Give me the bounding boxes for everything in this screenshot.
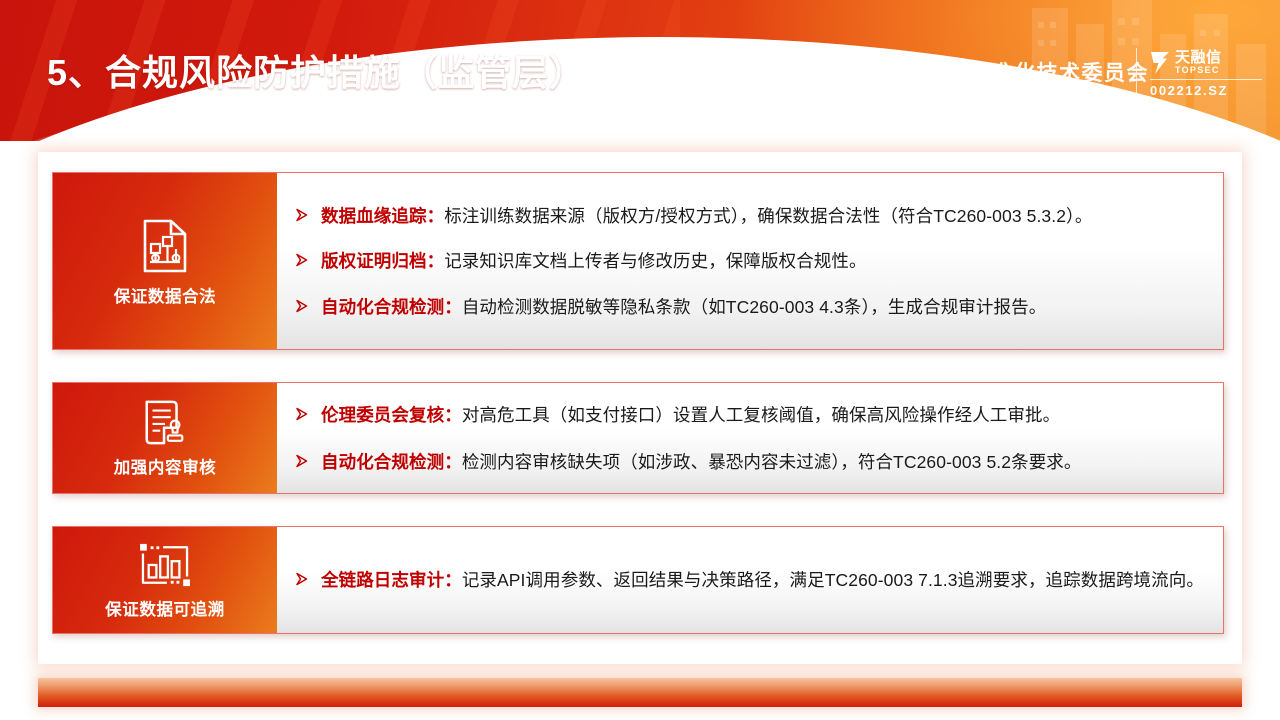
tc260-seal-micro-bottom: · Cybersecurity · — [769, 100, 823, 105]
page-title: 5、合规风险防护措施（监管层） — [47, 44, 586, 96]
slide-root: 5、合规风险防护措施（监管层） 全国网络安全标准化技术委员会 TC260 · C… — [0, 0, 1280, 720]
footer-accent-bar — [38, 678, 1242, 707]
content-panel: 保证数据合法 数据血缘追踪：标注训练数据来源（版权方/授权方式），确保数据合法性… — [38, 152, 1242, 664]
topsec-name-cn: 天融信 — [1175, 50, 1222, 65]
bullet-lead: 版权证明归档： — [321, 251, 444, 271]
bullet-item: 全链路日志审计：记录API调用参数、返回结果与决策路径，满足TC260-003 … — [295, 568, 1207, 593]
bullet-lead: 自动化合规检测： — [321, 452, 462, 472]
tc260-seal-code: TC260 — [769, 74, 823, 83]
topsec-mark-icon — [1150, 50, 1170, 76]
chevron-right-icon — [295, 249, 311, 271]
bullet-body: 记录API调用参数、返回结果与决策路径，满足TC260-003 7.1.3追溯要… — [462, 570, 1204, 590]
bullet-text: 数据血缘追踪：标注训练数据来源（版权方/授权方式），确保数据合法性（符合TC26… — [321, 204, 1093, 229]
card-bullets: 数据血缘追踪：标注训练数据来源（版权方/授权方式），确保数据合法性（符合TC26… — [277, 173, 1223, 349]
bullet-body: 自动检测数据脱敏等隐私条款（如TC260-003 4.3条），生成合规审计报告。 — [462, 297, 1047, 317]
bullet-text: 自动化合规检测：自动检测数据脱敏等隐私条款（如TC260-003 4.3条），生… — [321, 295, 1046, 320]
bar-chart-trace-icon — [135, 540, 195, 590]
tc260-name-cn: 全国网络安全标准化技术委员会 — [834, 62, 1149, 86]
tc260-name-block: 全国网络安全标准化技术委员会 National Technical Commit… — [834, 62, 1149, 99]
bullet-body: 检测内容审核缺失项（如涉政、暴恐内容未过滤），符合TC260-003 5.2条要… — [462, 452, 1082, 472]
bullet-body: 标注训练数据来源（版权方/授权方式），确保数据合法性（符合TC260-003 5… — [444, 206, 1092, 226]
bullet-item: 伦理委员会复核：对高危工具（如支付接口）设置人工复核阈值，确保高风险操作经人工审… — [295, 403, 1207, 428]
measure-card: 保证数据可追溯 全链路日志审计：记录API调用参数、返回结果与决策路径，满足TC… — [52, 526, 1224, 634]
bullet-item: 自动化合规检测：检测内容审核缺失项（如涉政、暴恐内容未过滤），符合TC260-0… — [295, 450, 1207, 475]
slide-header: 5、合规风险防护措施（监管层） 全国网络安全标准化技术委员会 TC260 · C… — [0, 0, 1280, 141]
measure-card: 保证数据合法 数据血缘追踪：标注训练数据来源（版权方/授权方式），确保数据合法性… — [52, 172, 1224, 350]
card-category-block: 保证数据可追溯 — [53, 527, 277, 633]
bullet-text: 伦理委员会复核：对高危工具（如支付接口）设置人工复核阈值，确保高风险操作经人工审… — [321, 403, 1060, 428]
bullet-item: 自动化合规检测：自动检测数据脱敏等隐私条款（如TC260-003 4.3条），生… — [295, 295, 1207, 320]
bullet-lead: 数据血缘追踪： — [321, 206, 444, 226]
measure-card: 加强内容审核 伦理委员会复核：对高危工具（如支付接口）设置人工复核阈值，确保高风… — [52, 382, 1224, 494]
tc260-seal-icon: 全国网络安全标准化技术委员会 TC260 · Cybersecurity · — [768, 52, 824, 108]
bullet-item: 数据血缘追踪：标注训练数据来源（版权方/授权方式），确保数据合法性（符合TC26… — [295, 204, 1207, 229]
bullet-lead: 自动化合规检测： — [321, 297, 462, 317]
chevron-right-icon — [295, 403, 311, 425]
card-bullets: 全链路日志审计：记录API调用参数、返回结果与决策路径，满足TC260-003 … — [277, 527, 1223, 633]
bullet-lead: 全链路日志审计： — [321, 570, 462, 590]
card-category-label: 加强内容审核 — [114, 454, 217, 478]
logo-divider — [1136, 48, 1137, 110]
tc260-name-en: National Technical Committee 260 on Cybe… — [834, 87, 1149, 98]
chevron-right-icon — [295, 204, 311, 226]
bullet-text: 自动化合规检测：检测内容审核缺失项（如涉政、暴恐内容未过滤），符合TC260-0… — [321, 450, 1082, 475]
topsec-logo-lockup: 天融信 TOPSEC 002212.SZ — [1150, 50, 1268, 98]
bullet-lead: 伦理委员会复核： — [321, 405, 462, 425]
document-stamp-icon — [135, 398, 195, 448]
bullet-text: 版权证明归档：记录知识库文档上传者与修改历史，保障版权合规性。 — [321, 249, 867, 274]
topsec-rule — [1150, 79, 1262, 80]
card-category-block: 保证数据合法 — [53, 173, 277, 349]
topsec-stock-code: 002212.SZ — [1150, 83, 1268, 98]
bullet-body: 记录知识库文档上传者与修改历史，保障版权合规性。 — [444, 251, 866, 271]
card-category-label: 保证数据可追溯 — [105, 596, 225, 620]
chevron-right-icon — [295, 568, 311, 590]
card-category-block: 加强内容审核 — [53, 383, 277, 493]
chevron-right-icon — [295, 450, 311, 472]
card-bullets: 伦理委员会复核：对高危工具（如支付接口）设置人工复核阈值，确保高风险操作经人工审… — [277, 383, 1223, 493]
bullet-body: 对高危工具（如支付接口）设置人工复核阈值，确保高风险操作经人工审批。 — [462, 405, 1060, 425]
card-category-label: 保证数据合法 — [114, 283, 217, 307]
topsec-name-en: TOPSEC — [1175, 66, 1222, 76]
tc260-logo-lockup: 全国网络安全标准化技术委员会 TC260 · Cybersecurity · 全… — [768, 52, 1149, 108]
chevron-right-icon — [295, 295, 311, 317]
bullet-text: 全链路日志审计：记录API调用参数、返回结果与决策路径，满足TC260-003 … — [321, 568, 1204, 593]
document-scale-icon — [135, 215, 195, 277]
bullet-item: 版权证明归档：记录知识库文档上传者与修改历史，保障版权合规性。 — [295, 249, 1207, 274]
